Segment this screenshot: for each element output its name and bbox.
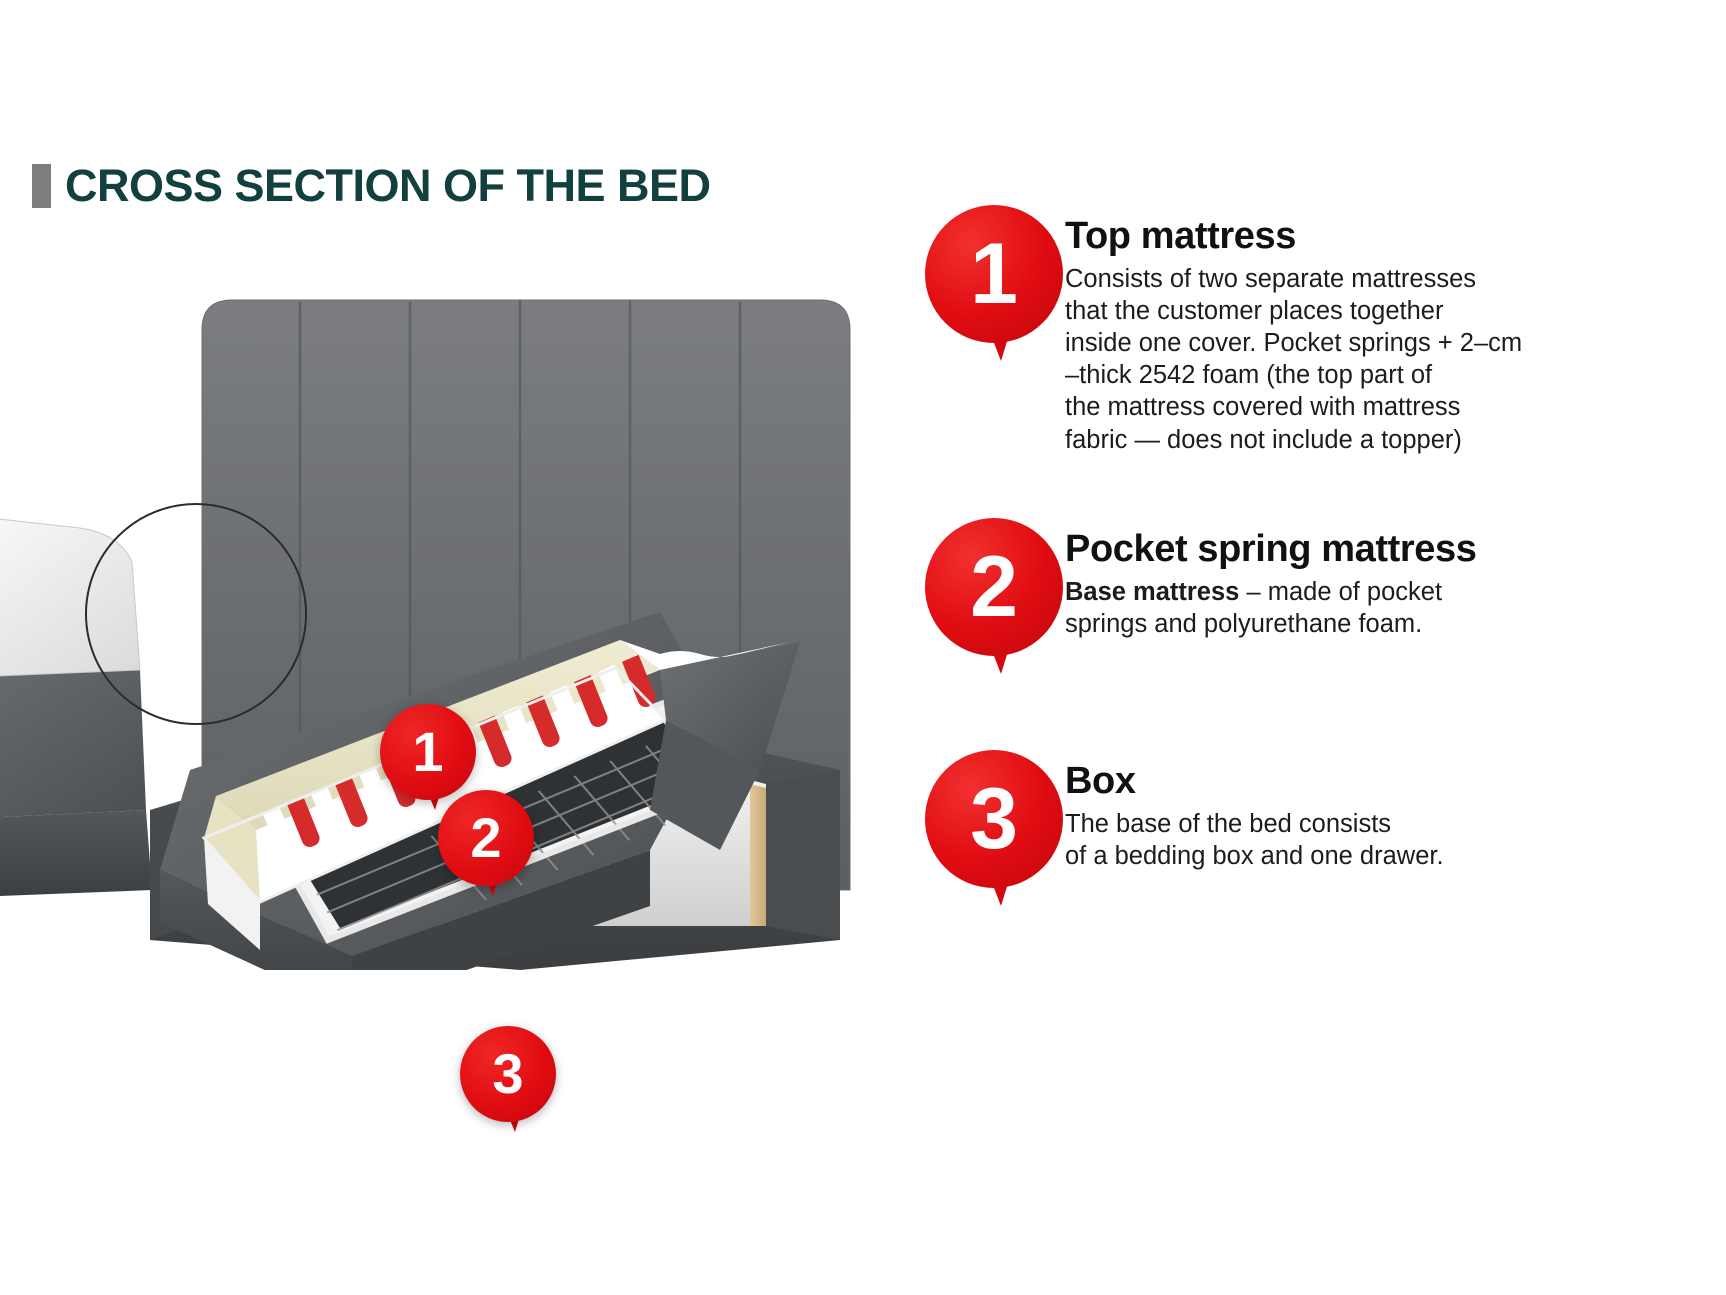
- legend-item-top-mattress: 1 Top mattress Consists of two separate …: [915, 205, 1705, 456]
- legend-item-pocket-spring-mattress: 2 Pocket spring mattress Base mattress –…: [915, 518, 1705, 688]
- legend-marker-3-number: 3: [925, 750, 1063, 888]
- legend-body-1: Consists of two separate mattresses that…: [1065, 263, 1705, 456]
- illustration-marker-2[interactable]: 2: [438, 790, 534, 886]
- legend-body-1-line-3: inside one cover. Pocket springs + 2–cm: [1065, 327, 1705, 359]
- marker-2-number: 2: [438, 790, 534, 886]
- legend-body-3-line-1: The base of the bed consists: [1065, 808, 1705, 840]
- legend-body-3-line-2: of a bedding box and one drawer.: [1065, 840, 1705, 872]
- legend-heading-2: Pocket spring mattress: [1065, 530, 1705, 570]
- marker-3-number: 3: [460, 1026, 556, 1122]
- legend-body-3: The base of the bed consists of a beddin…: [1065, 808, 1705, 872]
- legend-heading-3: Box: [1065, 762, 1705, 802]
- legend-marker-3[interactable]: 3: [915, 750, 1065, 920]
- illustration-marker-1[interactable]: 1: [380, 704, 476, 800]
- legend-body-1-line-2: that the customer places together: [1065, 295, 1705, 327]
- illustration-marker-3[interactable]: 3: [460, 1026, 556, 1122]
- legend-marker-1[interactable]: 1: [915, 205, 1065, 375]
- title-bullet-icon: [32, 164, 51, 208]
- marker-1-number: 1: [380, 704, 476, 800]
- page-title: CROSS SECTION OF THE BED: [65, 163, 711, 208]
- legend-list: 1 Top mattress Consists of two separate …: [915, 205, 1705, 920]
- legend-text-3: Box The base of the bed consists of a be…: [1065, 750, 1705, 872]
- legend-body-2: Base mattress – made of pocket springs a…: [1065, 576, 1705, 640]
- legend-text-1: Top mattress Consists of two separate ma…: [1065, 205, 1705, 456]
- legend-body-2-line-1: Base mattress – made of pocket: [1065, 576, 1705, 608]
- legend-body-1-line-1: Consists of two separate mattresses: [1065, 263, 1705, 295]
- page-title-row: CROSS SECTION OF THE BED: [32, 163, 711, 208]
- legend-body-1-line-4: –thick 2542 foam (the top part of: [1065, 359, 1705, 391]
- legend-marker-2[interactable]: 2: [915, 518, 1065, 688]
- legend-text-2: Pocket spring mattress Base mattress – m…: [1065, 518, 1705, 640]
- corner-detail-circle: [85, 503, 307, 725]
- legend-body-2-bold: Base mattress: [1065, 578, 1239, 606]
- legend-body-2-line-2: springs and polyurethane foam.: [1065, 608, 1705, 640]
- legend-body-1-line-5: the mattress covered with mattress: [1065, 391, 1705, 423]
- legend-body-1-line-6: fabric — does not include a topper): [1065, 424, 1705, 456]
- legend-marker-2-number: 2: [925, 518, 1063, 656]
- legend-heading-1: Top mattress: [1065, 217, 1705, 257]
- legend-body-2-line-1-rest: – made of pocket: [1239, 578, 1442, 606]
- legend-marker-1-number: 1: [925, 205, 1063, 343]
- legend-item-box: 3 Box The base of the bed consists of a …: [915, 750, 1705, 920]
